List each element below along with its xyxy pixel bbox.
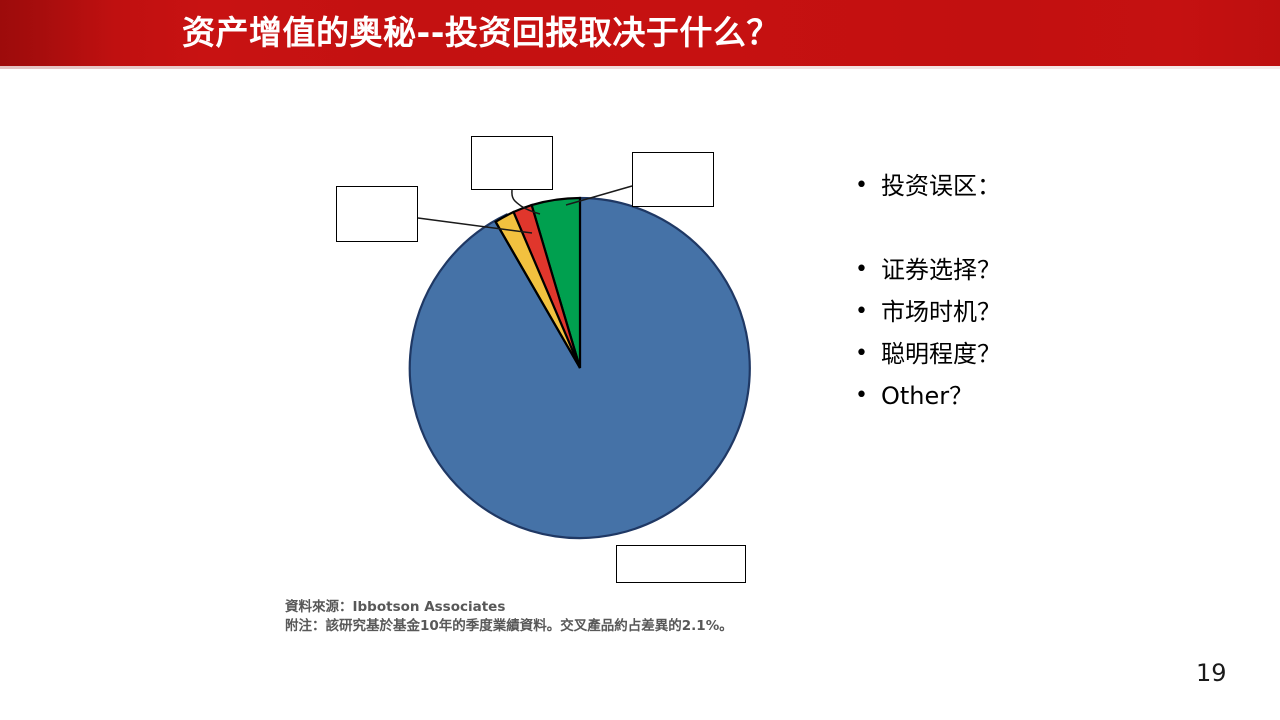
page-number: 19: [1196, 659, 1227, 687]
callout-box-bottom-text: [617, 546, 745, 582]
bullet-label-0: 投资误区：: [881, 168, 1001, 204]
source-note-line-2: 附注：該研究基於基金10年的季度業績資料。交叉產品約占差異的2.1%。: [285, 617, 845, 636]
list-item: • 市场时机？: [855, 294, 1245, 336]
bullet-dot-icon: •: [855, 252, 881, 288]
callout-box-left[interactable]: [336, 186, 418, 242]
list-item: • 证券选择？: [855, 252, 1245, 294]
callout-box-bottom[interactable]: [616, 545, 746, 583]
list-item: • 投资误区：: [855, 168, 1245, 210]
title-bar-underline: [0, 66, 1280, 69]
bullet-label-2: 证券选择？: [881, 252, 1001, 288]
page-title: 资产增值的奥秘--投资回报取决于什么？: [182, 11, 780, 55]
list-item: • 聪明程度？: [855, 336, 1245, 378]
callout-box-right[interactable]: [632, 152, 714, 207]
bullet-dot-icon: •: [855, 294, 881, 330]
bullet-label-4: 聪明程度？: [881, 336, 1001, 372]
bullet-dot-icon: •: [855, 336, 881, 372]
bullet-dot-icon: •: [855, 168, 881, 204]
bullet-list: • 投资误区： • 证券选择？ • 市场时机？ • 聪明程度？ • Other？: [855, 168, 1245, 420]
bullet-label-5: Other？: [881, 378, 973, 414]
callout-box-top[interactable]: [471, 136, 553, 190]
source-note: 資料來源：Ibbotson Associates 附注：該研究基於基金10年的季…: [285, 598, 845, 636]
callout-box-top-text: [472, 137, 552, 189]
source-note-line-1: 資料來源：Ibbotson Associates: [285, 598, 845, 617]
list-item: • Other？: [855, 378, 1245, 420]
bullet-dot-icon: •: [855, 378, 881, 414]
callout-box-right-text: [633, 153, 713, 206]
slide: 资产增值的奥秘--投资回报取决于什么？: [0, 0, 1280, 720]
callout-box-left-text: [337, 187, 417, 241]
bullet-label-3: 市场时机？: [881, 294, 1001, 330]
list-item: [855, 210, 1245, 252]
